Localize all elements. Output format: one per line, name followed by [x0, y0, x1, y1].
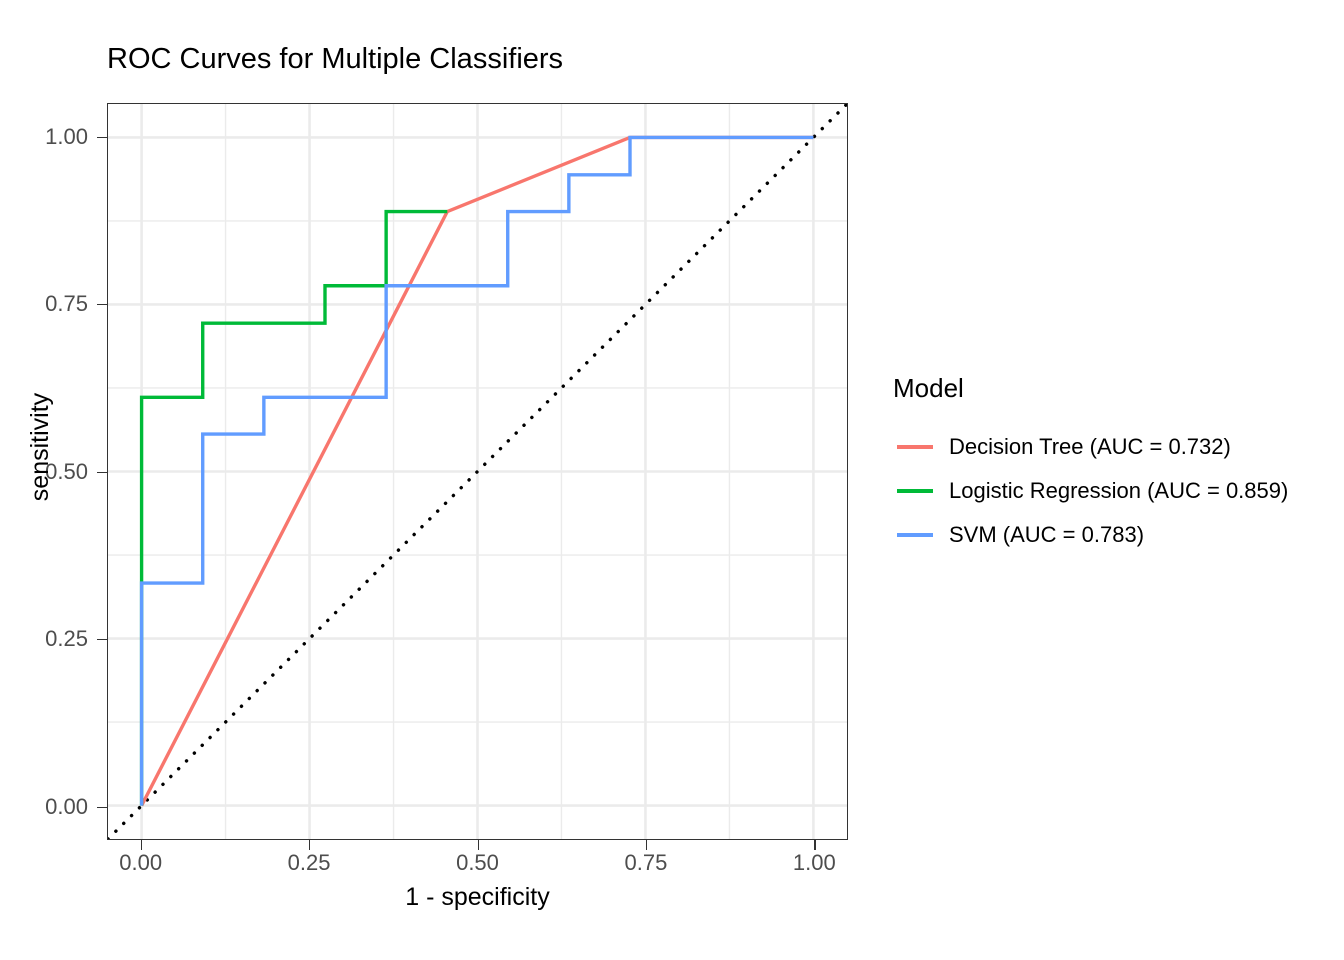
x-tick-label: 1.00: [793, 852, 836, 874]
legend-line-icon: [893, 425, 937, 469]
x-axis-title: 1 - specificity: [107, 882, 848, 912]
x-tick-mark: [478, 840, 479, 850]
x-tick-label: 0.25: [288, 852, 331, 874]
roc-chart: ROC Curves for Multiple Classifiers 0.00…: [0, 0, 1344, 960]
legend-item[interactable]: SVM (AUC = 0.783): [893, 513, 1288, 557]
y-tick-mark: [97, 137, 107, 138]
legend-line-icon: [893, 469, 937, 513]
x-tick-label: 0.75: [624, 852, 667, 874]
y-tick-mark: [97, 472, 107, 473]
legend-item[interactable]: Decision Tree (AUC = 0.732): [893, 425, 1288, 469]
legend-item-label: SVM (AUC = 0.783): [949, 522, 1144, 548]
x-tick-mark: [309, 840, 310, 850]
legend-line-icon: [893, 513, 937, 557]
y-tick-mark: [97, 304, 107, 305]
legend-title: Model: [893, 373, 1288, 403]
legend-item[interactable]: Logistic Regression (AUC = 0.859): [893, 469, 1288, 513]
legend: Model Decision Tree (AUC = 0.732)Logisti…: [893, 373, 1288, 557]
y-axis-title: sensitivity: [25, 347, 55, 547]
x-tick-label: 0.00: [119, 852, 162, 874]
legend-item-label: Logistic Regression (AUC = 0.859): [949, 478, 1288, 504]
x-tick-mark: [646, 840, 647, 850]
y-tick-mark: [97, 639, 107, 640]
x-tick-label: 0.50: [456, 852, 499, 874]
x-tick-mark: [141, 840, 142, 850]
x-tick-mark: [814, 840, 815, 850]
legend-item-label: Decision Tree (AUC = 0.732): [949, 434, 1231, 460]
legend-items: Decision Tree (AUC = 0.732)Logistic Regr…: [893, 425, 1288, 557]
y-tick-mark: [97, 807, 107, 808]
